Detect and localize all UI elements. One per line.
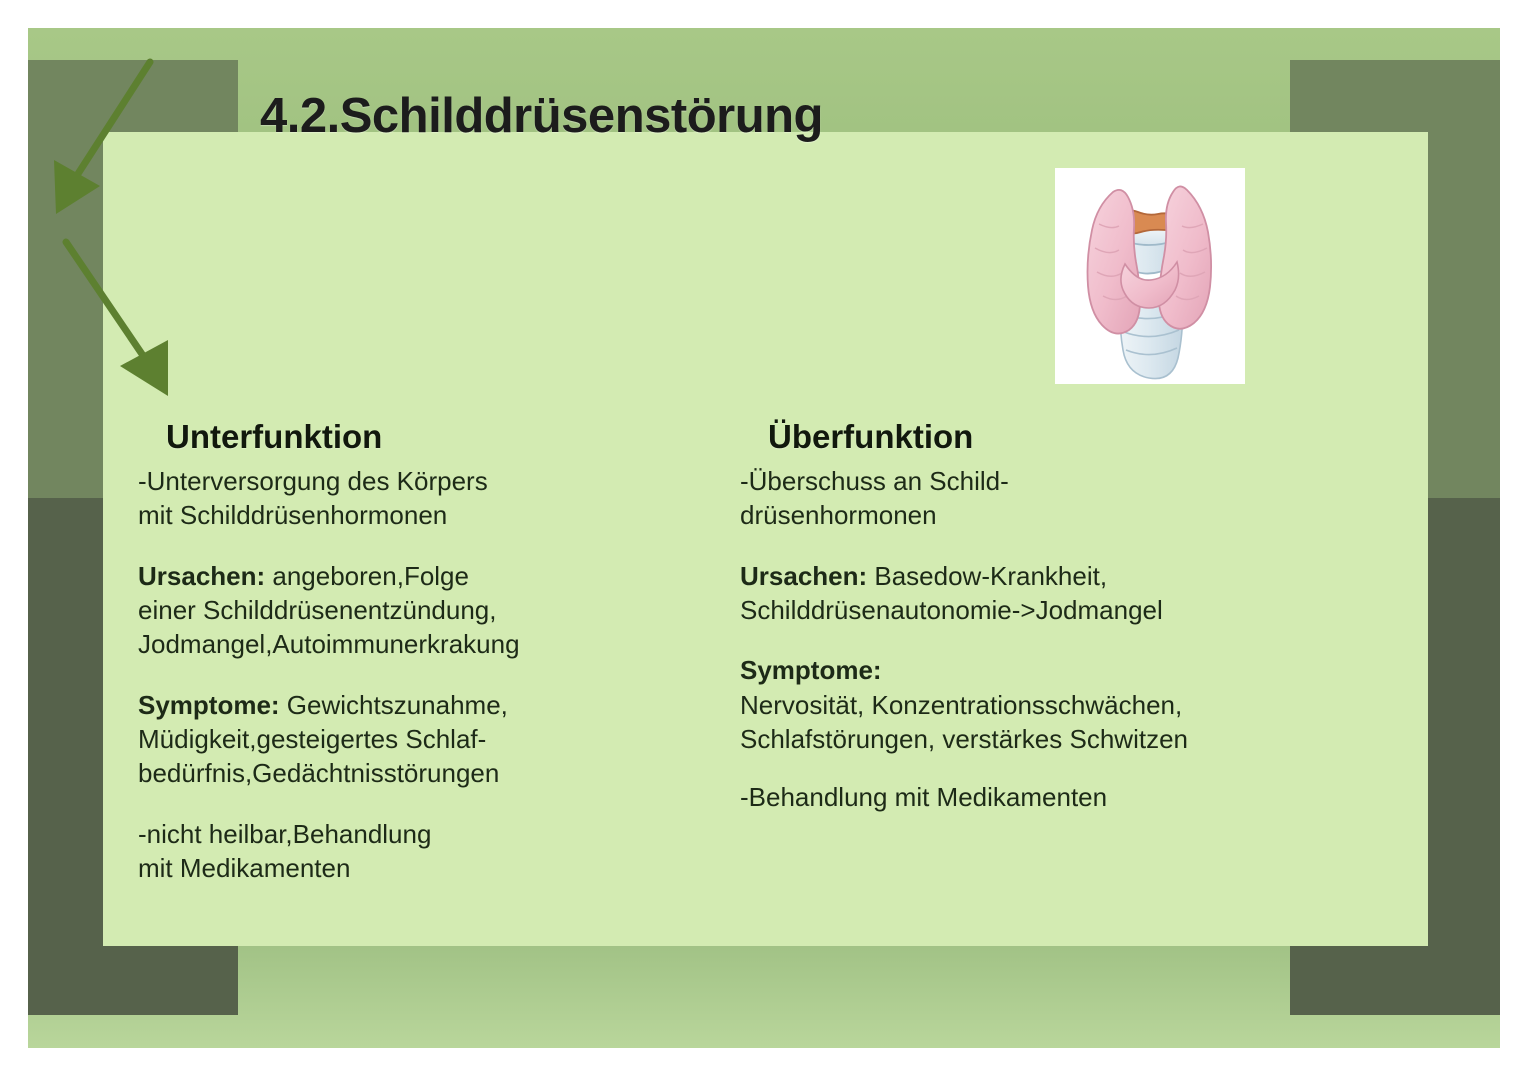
- thyroid-left-lobe-shape: [1088, 190, 1141, 334]
- block-ueberfunktion-definition: -Überschuss an Schild- drüsenhormonen: [740, 464, 1340, 533]
- arrow-to-ueberfunktion: [28, 208, 188, 388]
- block-text: Nervosität, Konzentrationsschwächen, Sch…: [740, 690, 1188, 754]
- corner-bracket-bottom-right-horizontal: [1290, 937, 1500, 1015]
- arrow-down-right-icon: [28, 208, 188, 388]
- block-label: Ursachen:: [138, 561, 265, 591]
- block-ueberfunktion-symptome: Symptome: Nervosität, Konzentrationsschw…: [740, 653, 1340, 756]
- block-text: -Überschuss an Schild- drüsenhormonen: [740, 466, 1009, 530]
- thyroid-gland-icon: [1055, 168, 1245, 384]
- corner-bracket-bottom-left-horizontal: [28, 937, 238, 1015]
- block-unterfunktion-behandlung: -nicht heilbar,Behandlung mit Medikament…: [138, 817, 658, 886]
- column-heading-unterfunktion: Unterfunktion: [138, 418, 658, 456]
- block-unterfunktion-definition: -Unterversorgung des Körpers mit Schildd…: [138, 464, 658, 533]
- block-text: -Behandlung mit Medikamenten: [740, 782, 1107, 812]
- block-text: -Unterversorgung des Körpers mit Schildd…: [138, 466, 488, 530]
- thyroid-gland-illustration: [1055, 168, 1245, 384]
- block-label: Symptome:: [138, 690, 280, 720]
- arrow-down-left-icon: [28, 28, 168, 208]
- block-label: Symptome:: [740, 655, 882, 685]
- block-label: Ursachen:: [740, 561, 867, 591]
- thyroid-right-lobe-shape: [1159, 186, 1211, 328]
- block-ueberfunktion-behandlung: -Behandlung mit Medikamenten: [740, 780, 1340, 814]
- column-unterfunktion: Unterfunktion -Unterversorgung des Körpe…: [138, 418, 658, 911]
- arrow-to-unterfunktion: [28, 28, 168, 208]
- column-ueberfunktion: Überfunktion -Überschuss an Schild- drüs…: [740, 418, 1340, 841]
- column-heading-ueberfunktion: Überfunktion: [740, 418, 1340, 456]
- block-unterfunktion-ursachen: Ursachen: angeboren,Folge einer Schilddr…: [138, 559, 658, 662]
- block-text: -nicht heilbar,Behandlung mit Medikament…: [138, 819, 431, 883]
- block-unterfunktion-symptome: Symptome: Gewichtszunahme, Müdigkeit,ges…: [138, 688, 658, 791]
- slide-canvas: 4.2.Schilddrüsenstörung: [28, 28, 1500, 1048]
- page-title: 4.2.Schilddrüsenstörung: [260, 88, 960, 144]
- block-ueberfunktion-ursachen: Ursachen: Basedow-Krankheit, Schilddrüse…: [740, 559, 1340, 628]
